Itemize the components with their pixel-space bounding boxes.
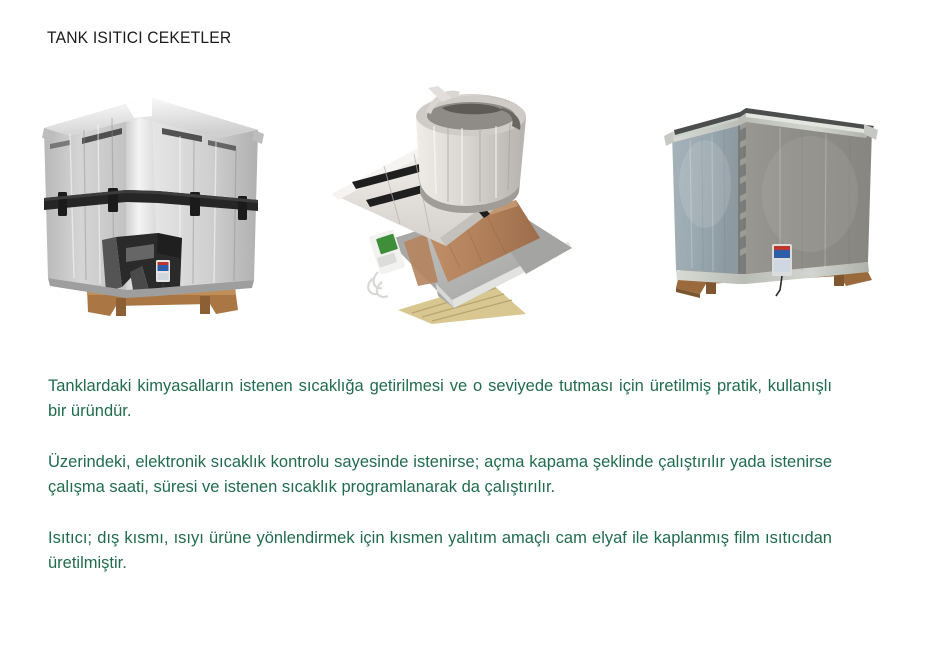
product-photo-ibc-tank-grey-jacket bbox=[650, 84, 895, 322]
page-title: TANK ISITICI CEKETLER bbox=[47, 28, 231, 48]
paragraph-3: Isıtıcı; dış kısmı, ısıyı ürüne yönlendi… bbox=[48, 526, 832, 576]
product-image-gallery bbox=[0, 78, 928, 323]
paragraph-2: Üzerindeki, elektronik sıcaklık kontrolu… bbox=[48, 450, 832, 500]
product-photo-drum-and-mat-heaters bbox=[330, 82, 585, 324]
product-photo-ibc-tank-white-jacket bbox=[30, 82, 275, 322]
description-text-block: Tanklardaki kimyasalların istenen sıcakl… bbox=[48, 374, 832, 576]
paragraph-1: Tanklardaki kimyasalların istenen sıcakl… bbox=[48, 374, 832, 424]
